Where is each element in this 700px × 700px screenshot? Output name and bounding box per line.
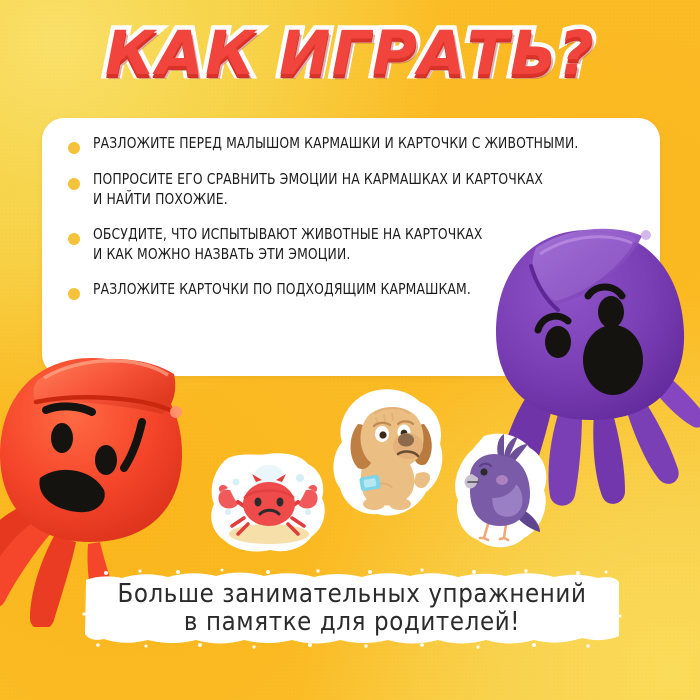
bubble-icon	[296, 474, 304, 482]
red-left-eye	[51, 423, 73, 453]
purple-mouth-surprised	[583, 325, 643, 395]
bubble-icon	[225, 509, 231, 515]
dog-card[interactable]	[330, 388, 450, 523]
footer-banner: Больше занимательных упражнений в памятк…	[82, 566, 622, 650]
bullet-dot-icon	[68, 288, 80, 300]
instruction-line: и как можно назвать эти эмоции.	[93, 245, 482, 265]
dog-paw-right	[389, 498, 411, 510]
instruction-line: и найти похожие.	[93, 190, 543, 210]
banner-torn-paper	[82, 566, 622, 650]
bullet-dot-icon	[68, 142, 80, 154]
crab-right-eye	[277, 498, 284, 507]
instruction-text-2: Попросите его сравнить эмоции на кармашк…	[93, 170, 543, 209]
bird-cheek	[496, 475, 508, 485]
bird-head	[470, 454, 518, 498]
bubble-icon	[305, 509, 311, 515]
bullet-dot-icon	[68, 233, 80, 245]
instruction-line: Попросите его сравнить эмоции на кармашк…	[93, 170, 543, 190]
page-title: КАК ИГРАТЬ?	[105, 18, 595, 89]
instruction-text-1: Разложите перед малышом кармашки и карто…	[93, 134, 578, 154]
instruction-text-3: Обсудите, что испытывают животные на кар…	[93, 225, 482, 264]
red-zipper-pull	[170, 406, 182, 418]
purple-zipper-pull	[641, 230, 651, 240]
bird-eye	[480, 468, 487, 475]
instruction-line: Обсудите, что испытывают животные на кар…	[93, 225, 482, 245]
instruction-line: Разложите карточки по подходящим кармашк…	[93, 280, 471, 300]
list-item: Попросите его сравнить эмоции на кармашк…	[64, 170, 634, 209]
bullet-dot-icon	[68, 178, 80, 190]
instruction-text-4: Разложите карточки по подходящим кармашк…	[93, 280, 471, 300]
red-right-eye	[95, 445, 117, 475]
crab-card[interactable]	[208, 452, 330, 557]
crab-body	[243, 482, 295, 526]
purple-left-eye	[545, 326, 571, 358]
purple-right-eye	[598, 296, 624, 328]
dog-nose	[398, 434, 414, 447]
page-title-container: КАК ИГРАТЬ?	[0, 12, 700, 94]
list-item: Разложите перед малышом кармашки и карто…	[64, 134, 634, 154]
bird-card[interactable]	[450, 432, 556, 552]
bubble-icon	[233, 479, 240, 486]
crab-left-eye	[255, 498, 262, 507]
instruction-line: Разложите перед малышом кармашки и карто…	[93, 134, 578, 154]
dog-paw-left	[363, 498, 385, 510]
